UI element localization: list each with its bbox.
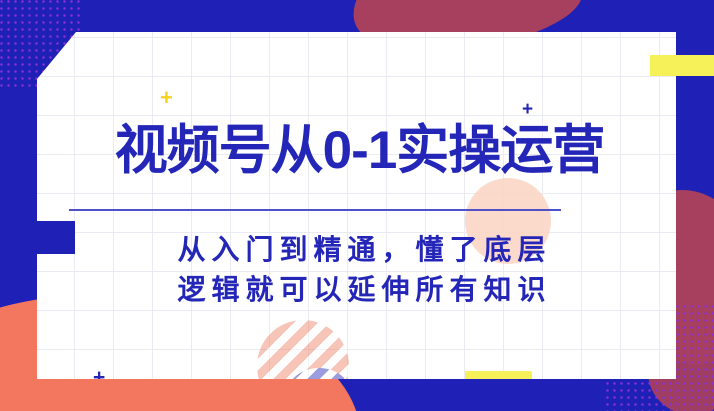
striped-circle-watermark xyxy=(257,320,349,379)
plus-icon-yellow: + xyxy=(160,87,173,109)
poster-subtitle: 从入门到精通，懂了底层 逻辑就可以延伸所有知识 xyxy=(72,230,657,310)
plus-icon-blue-top: + xyxy=(522,100,533,119)
poster-subtitle-line-2: 逻辑就可以延伸所有知识 xyxy=(72,270,657,310)
poster-title: 视频号从0-1实操运营 xyxy=(67,124,652,177)
plus-icon-blue-bottom: + xyxy=(93,367,105,379)
card-grid-pattern xyxy=(37,32,676,379)
yellow-bar-top-accent xyxy=(650,55,714,76)
poster-subtitle-line-1: 从入门到精通，懂了底层 xyxy=(72,230,657,270)
title-divider-line xyxy=(69,209,561,211)
promo-poster: 视频号从0-1实操运营 从入门到精通，懂了底层 逻辑就可以延伸所有知识 + + … xyxy=(0,0,714,411)
white-content-card: 视频号从0-1实操运营 从入门到精通，懂了底层 逻辑就可以延伸所有知识 + + … xyxy=(37,32,676,379)
yellow-bar-bottom-accent xyxy=(465,371,532,379)
blue-left-tab-accent xyxy=(37,221,75,254)
